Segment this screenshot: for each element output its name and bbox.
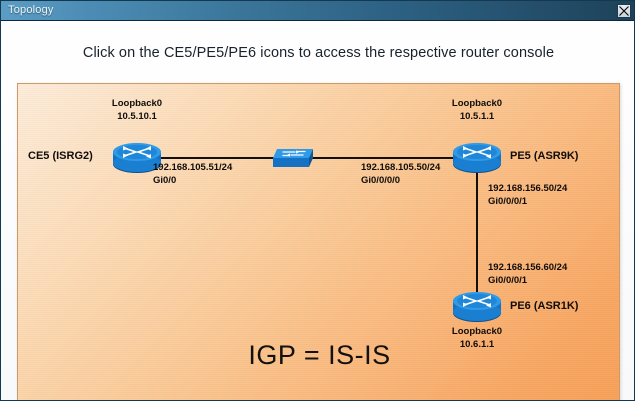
ce5-interface-address-value: 192.168.105.51/24 <box>153 162 232 173</box>
switch-icon[interactable] <box>271 146 315 170</box>
instruction-text: Click on the CE5/PE5/PE6 icons to access… <box>1 45 635 61</box>
pe5-interface0-address: 192.168.105.50/24 <box>361 162 440 174</box>
topology-diagram: Loopback0 10.5.10.1 CE5 (ISRG2) <box>17 83 620 401</box>
ce5-node-label: CE5 (ISRG2) <box>28 150 93 162</box>
pe5-interface0-name-value: Gi0/0/0/0 <box>361 175 400 186</box>
ce5-interface-name-value: Gi0/0 <box>153 175 176 186</box>
pe5-loopback-ip: 10.5.1.1 <box>423 111 531 123</box>
router-icon-pe5[interactable] <box>450 140 504 174</box>
link-pe5-pe6 <box>476 169 478 304</box>
pe6-interface-address-value: 192.168.156.60/24 <box>488 262 567 273</box>
pe5-loopback-label: Loopback0 <box>423 98 531 110</box>
pe6-loopback-label: Loopback0 <box>423 326 531 338</box>
pe5-loopback-ip-value: 10.5.1.1 <box>460 111 494 122</box>
window-title-bar: Topology <box>1 1 635 21</box>
pe5-interface0-name: Gi0/0/0/0 <box>361 175 400 187</box>
ce5-loopback-name: Loopback0 <box>112 98 162 109</box>
ce5-interface-name: Gi0/0 <box>153 175 176 187</box>
pe6-loopback-name: Loopback0 <box>452 326 502 337</box>
pe5-interface1-address-value: 192.168.156.50/24 <box>488 183 567 194</box>
pe5-interface0-address-value: 192.168.105.50/24 <box>361 162 440 173</box>
pe5-node-label: PE5 (ASR9K) <box>510 150 578 162</box>
pe5-node-name: PE5 (ASR9K) <box>510 150 578 162</box>
ce5-loopback-label: Loopback0 <box>83 98 191 110</box>
pe6-interface-name-value: Gi0/0/0/1 <box>488 275 527 286</box>
close-button[interactable] <box>617 4 631 18</box>
topology-window: Topology Click on the CE5/PE5/PE6 icons … <box>0 0 635 401</box>
pe5-loopback-name: Loopback0 <box>452 98 502 109</box>
igp-label: IGP = IS-IS <box>18 340 620 371</box>
pe6-node-label: PE6 (ASR1K) <box>510 300 578 312</box>
ce5-loopback-ip: 10.5.10.1 <box>83 111 191 123</box>
ce5-loopback-ip-value: 10.5.10.1 <box>117 111 157 122</box>
pe5-interface1-name-value: Gi0/0/0/1 <box>488 196 527 207</box>
window-title: Topology <box>8 4 54 16</box>
pe5-interface1-address: 192.168.156.50/24 <box>488 183 567 195</box>
pe6-interface-address: 192.168.156.60/24 <box>488 262 567 274</box>
close-icon <box>618 5 630 17</box>
pe6-interface-name: Gi0/0/0/1 <box>488 275 527 287</box>
router-icon-pe6[interactable] <box>450 289 504 323</box>
ce5-interface-address: 192.168.105.51/24 <box>153 162 232 174</box>
pe6-node-name: PE6 (ASR1K) <box>510 300 578 312</box>
ce5-node-name: CE5 (ISRG2) <box>28 150 93 162</box>
pe5-interface1-name: Gi0/0/0/1 <box>488 196 527 208</box>
